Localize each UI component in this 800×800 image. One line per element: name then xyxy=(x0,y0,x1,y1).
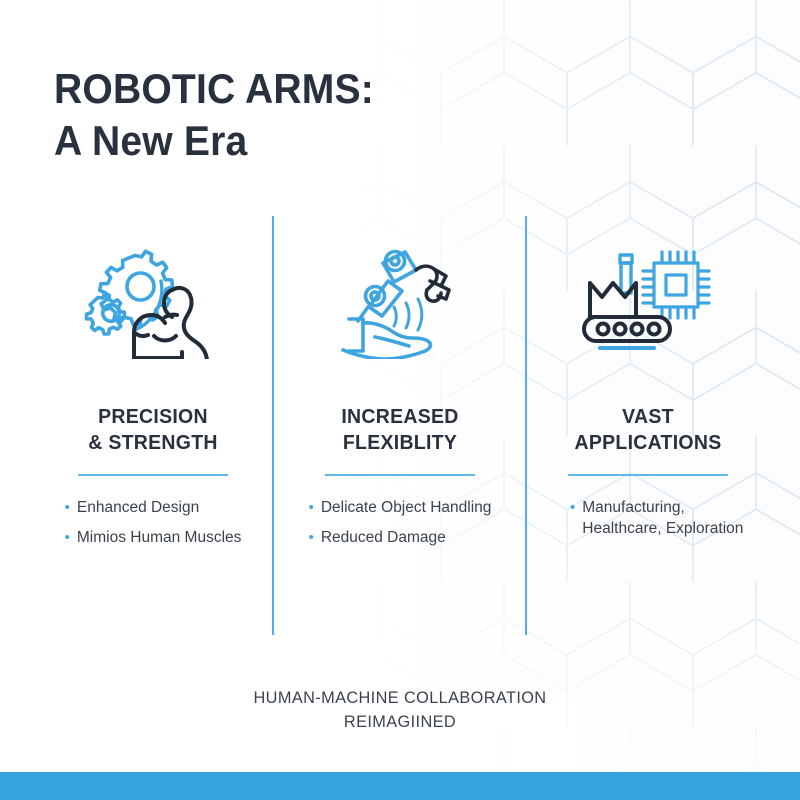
list-item: • Mimios Human Muscles xyxy=(65,527,242,548)
bullet-dot-icon: • xyxy=(570,497,575,518)
gears-and-muscle-arm-icon xyxy=(45,240,261,360)
list-item: • Delicate Object Handling xyxy=(309,497,492,518)
bullet-dot-icon: • xyxy=(309,497,314,518)
feature-column-increased-flexibility: INCREASED FLEXIBLITY • Delicate Object H… xyxy=(287,240,513,573)
bullet-text: Manufacturing, Healthcare, Exploration xyxy=(582,497,756,539)
list-item: • Reduced Damage xyxy=(309,527,492,548)
bullet-dot-icon: • xyxy=(65,497,70,518)
title-line-1: ROBOTIC ARMS: xyxy=(54,63,374,115)
robot-arm-and-hand-icon xyxy=(287,240,513,360)
column-heading-2-line-1: INCREASED xyxy=(341,405,458,428)
column-heading-1: PRECISION & STRENGTH xyxy=(50,404,255,456)
poster-title: ROBOTIC ARMS: A New Era xyxy=(54,63,398,167)
column-heading-1-line-1: PRECISION xyxy=(98,405,208,428)
column-heading-2-line-2: FLEXIBLITY xyxy=(343,431,457,454)
footer-line-1: HUMAN-MACHINE COLLABORATION xyxy=(16,686,784,710)
factory-conveyor-and-chip-icon xyxy=(540,240,756,360)
footer-line-2: REIMAGIINED xyxy=(16,710,784,734)
list-item: • Enhanced Design xyxy=(65,497,242,518)
title-line-2: A New Era xyxy=(54,115,374,167)
bullet-text: Delicate Object Handling xyxy=(321,497,492,518)
infographic-poster: ROBOTIC ARMS: A New Era xyxy=(0,0,800,800)
bullet-text: Reduced Damage xyxy=(321,527,492,548)
column-heading-3: VAST APPLICATIONS xyxy=(545,404,750,456)
column-bullets-1: • Enhanced Design • Mimios Human Muscles xyxy=(65,497,242,557)
column-heading-2: INCREASED FLEXIBLITY xyxy=(293,404,508,456)
column-divider-1 xyxy=(272,216,274,635)
column-heading-3-line-2: APPLICATIONS xyxy=(575,431,722,454)
column-bullets-2: • Delicate Object Handling • Reduced Dam… xyxy=(309,497,492,557)
bottom-accent-bar xyxy=(0,772,800,800)
bullet-text: Mimios Human Muscles xyxy=(77,527,242,548)
column-bullets-3: • Manufacturing, Healthcare, Exploration xyxy=(570,497,756,539)
footer-tagline: HUMAN-MACHINE COLLABORATION REIMAGIINED xyxy=(16,686,784,734)
column-divider-2 xyxy=(525,216,527,635)
bullet-dot-icon: • xyxy=(65,527,70,548)
feature-column-precision-strength: PRECISION & STRENGTH • Enhanced Design •… xyxy=(45,240,261,573)
column-heading-1-line-2: & STRENGTH xyxy=(88,431,217,454)
bullet-text: Enhanced Design xyxy=(77,497,242,518)
column-rule-3 xyxy=(568,474,728,476)
bullet-dot-icon: • xyxy=(309,527,314,548)
column-heading-3-line-1: VAST xyxy=(622,405,674,428)
list-item: • Manufacturing, Healthcare, Exploration xyxy=(570,497,756,539)
feature-column-vast-applications: VAST APPLICATIONS • Manufacturing, Healt… xyxy=(540,240,756,555)
